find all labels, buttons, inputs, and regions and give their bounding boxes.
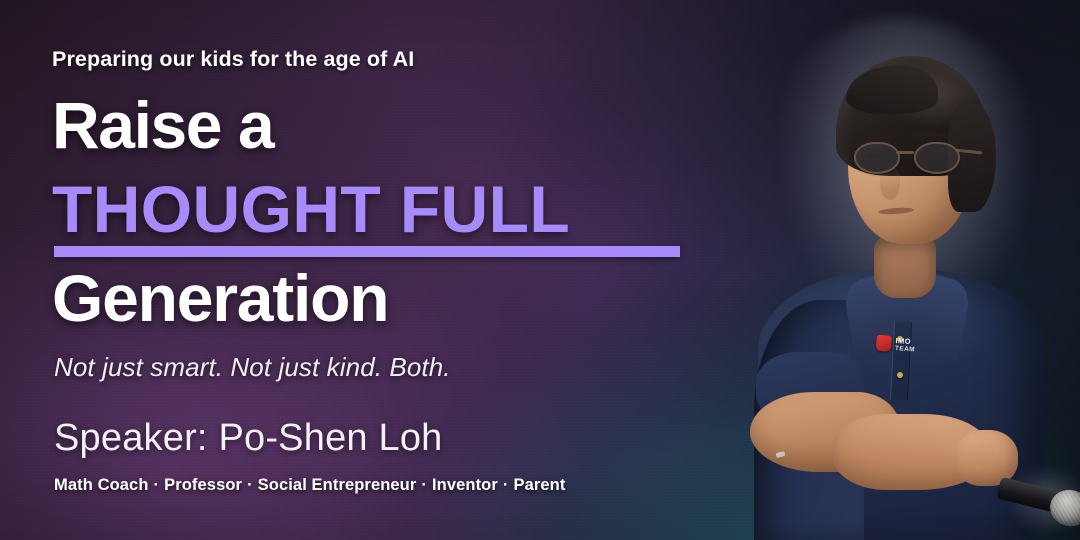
neck [874,236,936,298]
shirt-logo-text-line2: TEAM [895,345,915,353]
promo-banner: Preparing our kids for the age of AI Rai… [0,0,1080,540]
glasses-icon [852,142,976,172]
shirt-button-bottom [897,372,903,378]
credential-separator: · [247,476,253,494]
credential-separator: · [154,476,160,494]
glasses-lens-right [914,142,960,174]
credential-separator: · [503,476,509,494]
speaker-portrait: IMO TEAM [720,0,1080,540]
credential-separator: · [421,476,427,494]
hair-fringe [846,66,938,114]
headline-line-1: Raise a [52,92,273,158]
glasses-bridge [896,151,914,154]
shirt-logo-mark-icon [876,335,892,352]
speaker-name: Speaker: Po-Shen Loh [54,417,443,460]
credentials-list: Math Coach·Professor·Social Entrepreneur… [54,476,565,495]
eyebrow-text: Preparing our kids for the age of AI [52,47,414,72]
accent-underline-bar [54,246,680,257]
text-column: Preparing our kids for the age of AI Rai… [52,0,752,540]
credential-item: Math Coach [54,476,149,494]
shirt-logo: IMO TEAM [875,334,943,365]
glasses-lens-left [854,142,900,174]
credential-item: Inventor [432,476,498,494]
credential-item: Professor [164,476,242,494]
tagline-text: Not just smart. Not just kind. Both. [54,352,451,383]
credential-item: Parent [513,476,565,494]
headline-line-3: Generation [52,265,388,331]
credential-item: Social Entrepreneur [258,476,417,494]
headline-line-2-accent: THOUGHT FULL [52,176,570,242]
